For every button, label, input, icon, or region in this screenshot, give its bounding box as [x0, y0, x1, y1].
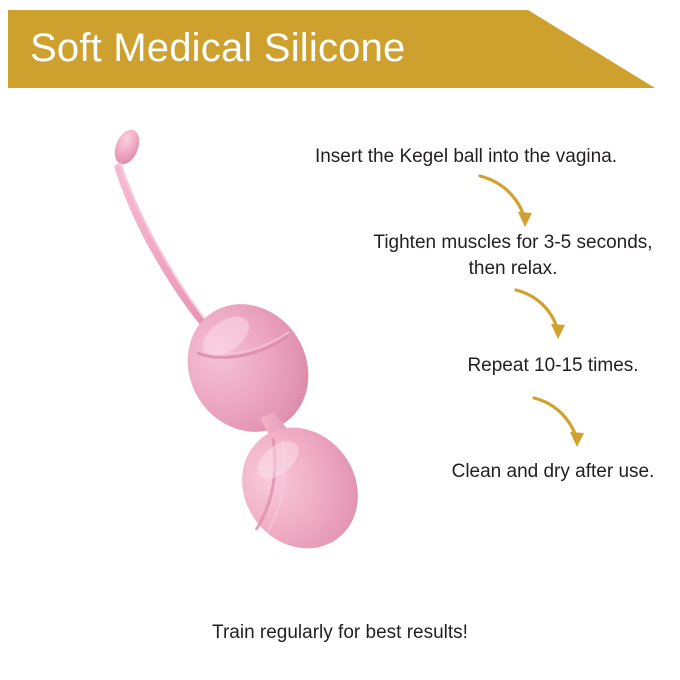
curved-arrow-icon-2 — [504, 280, 584, 350]
instruction-step-4: Clean and dry after use. — [428, 459, 678, 485]
header-banner: Soft Medical Silicone — [0, 0, 680, 100]
kegel-ball-svg — [60, 110, 390, 560]
instruction-step-1: Insert the Kegel ball into the vagina. — [296, 144, 636, 170]
infographic-canvas: Soft Medical Silicone — [0, 0, 680, 680]
instruction-step-3: Repeat 10-15 times. — [438, 353, 668, 379]
cord-highlight — [120, 164, 212, 328]
cord-tip — [110, 126, 144, 168]
curved-arrow-icon-3 — [522, 388, 602, 458]
kegel-ball-product-image — [60, 110, 390, 560]
curved-arrow-icon-1 — [470, 168, 550, 238]
retrieval-cord — [114, 162, 228, 339]
footer-note: Train regularly for best results! — [90, 622, 590, 644]
page-title: Soft Medical Silicone — [30, 22, 510, 74]
